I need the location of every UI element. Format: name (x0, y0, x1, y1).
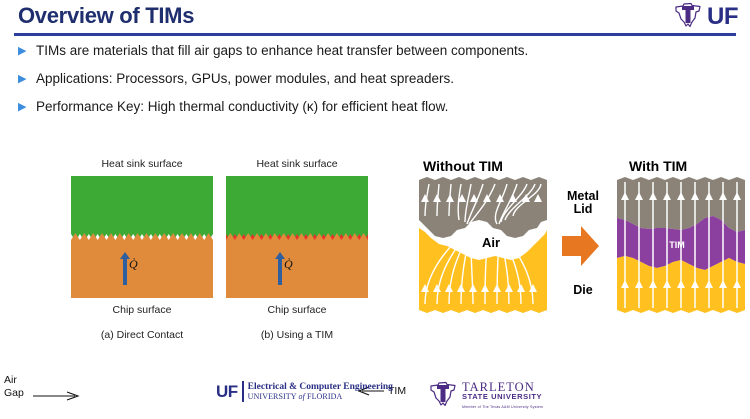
tarleton-name: TARLETON (462, 382, 543, 392)
transition-arrow-icon (562, 226, 599, 266)
panel-caption: (b) Using a TIM (207, 329, 387, 341)
bullet-triangle-icon: ▶ (14, 96, 36, 118)
heat-flow-arrow-icon (278, 258, 282, 285)
list-item: ▶ Applications: Processors, GPUs, power … (0, 68, 750, 96)
tarleton-system-note: Member of The Texas A&M University Syste… (462, 402, 543, 412)
metal-lid-label-line2: Lid (555, 203, 611, 216)
list-item: ▶ Performance Key: High thermal conducti… (0, 96, 750, 124)
heat-sink-surface-label: Heat sink surface (207, 158, 387, 170)
panel-caption: (a) Direct Contact (52, 329, 232, 341)
bullet-text: TIMs are materials that fill air gaps to… (36, 40, 528, 62)
panel-using-tim: Heat sink surface Q̇ (207, 150, 387, 365)
tarleton-subtitle: STATE UNIVERSITY (462, 392, 543, 402)
metal-lid-label: Metal Lid (555, 190, 611, 216)
bullet-triangle-icon: ▶ (14, 40, 36, 62)
list-item: ▶ TIMs are materials that fill air gaps … (0, 40, 750, 68)
tim-package-diagram: Without TIM With TIM (413, 158, 750, 333)
slide-footer: UF Electrical & Computer Engineering UNI… (0, 377, 750, 419)
chip-block (226, 241, 368, 298)
texas-t-logo-icon (428, 379, 458, 414)
heat-flow-arrow: Q̇ (123, 258, 138, 285)
heat-flow-symbol: Q̇ (284, 259, 293, 270)
material-stack: Q̇ (226, 176, 368, 298)
heat-sink-block (226, 176, 368, 233)
uf-logo-text: UF (216, 383, 238, 400)
slide: Overview of TIMs UF ▶ TIMs are materials… (0, 0, 750, 419)
heat-flow-arrow-icon (123, 258, 127, 285)
heat-flow-arrow: Q̇ (278, 258, 293, 285)
heat-sink-block (71, 176, 213, 233)
tarleton-logo: TARLETON STATE UNIVERSITY Member of The … (428, 379, 543, 414)
package-cross-section-graphic (413, 158, 750, 333)
uf-logo-lines: Electrical & Computer Engineering UNIVER… (248, 382, 393, 402)
panel-direct-contact: Heat sink surface Q̇ (52, 150, 232, 365)
tim-region-label: TIM (657, 240, 697, 250)
uf-header-logo: UF (673, 1, 738, 33)
bullet-triangle-icon: ▶ (14, 68, 36, 90)
title-divider (14, 33, 736, 36)
figure-area: Air Gap Heat sink surface (0, 150, 750, 365)
uf-university-label: UNIVERSITY of FLORIDA (248, 392, 393, 402)
uf-ece-logo: UF Electrical & Computer Engineering UNI… (216, 381, 393, 402)
tarleton-logo-lines: TARLETON STATE UNIVERSITY Member of The … (462, 382, 543, 412)
air-gap-region-label: Air (471, 235, 511, 250)
page-title: Overview of TIMs (18, 3, 194, 29)
uf-department-label: Electrical & Computer Engineering (248, 382, 393, 392)
material-stack: Q̇ (71, 176, 213, 298)
logo-divider (242, 381, 244, 402)
heat-flow-symbol: Q̇ (129, 259, 138, 270)
bullet-text: Performance Key: High thermal conductivi… (36, 96, 448, 118)
tim-contact-diagram: Air Gap Heat sink surface (0, 150, 405, 365)
chip-block (71, 241, 213, 298)
die-label: Die (563, 284, 603, 297)
bullet-list: ▶ TIMs are materials that fill air gaps … (0, 40, 750, 124)
heat-sink-surface-label: Heat sink surface (52, 158, 232, 170)
uf-university-part1: UNIVERSITY (248, 392, 299, 401)
bullet-text: Applications: Processors, GPUs, power mo… (36, 68, 454, 90)
texas-t-logo-icon (673, 0, 703, 35)
uf-logo-text: UF (707, 5, 738, 29)
uf-university-part3: FLORIDA (305, 392, 342, 401)
slide-header: Overview of TIMs UF (0, 0, 750, 38)
chip-surface-label: Chip surface (207, 304, 387, 316)
chip-surface-label: Chip surface (52, 304, 232, 316)
